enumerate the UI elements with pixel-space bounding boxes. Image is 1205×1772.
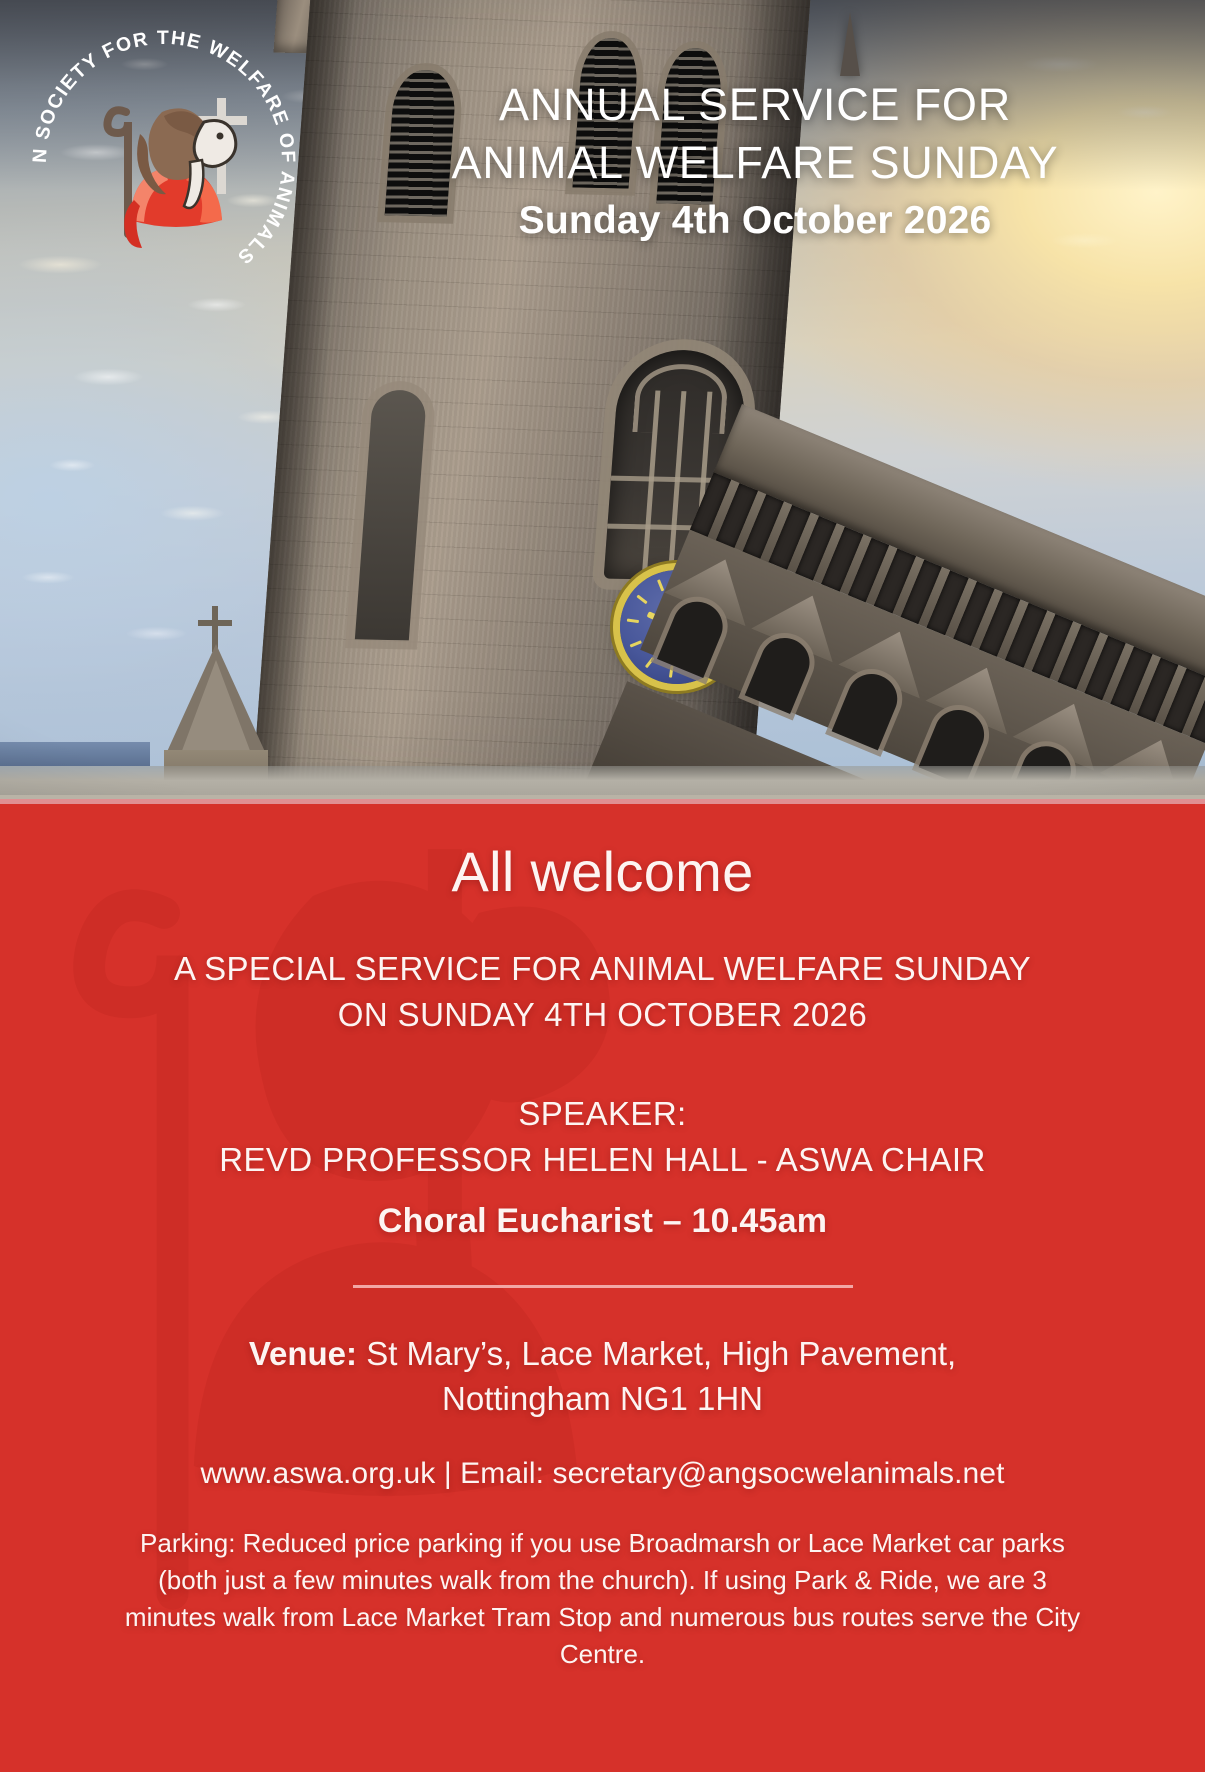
section-divider (0, 795, 1205, 804)
all-welcome-heading: All welcome (60, 804, 1145, 900)
service-time: Choral Eucharist – 10.45am (60, 1202, 1145, 1241)
hero-title: ANNUAL SERVICE FOR ANIMAL WELFARE SUNDAY (330, 76, 1180, 191)
speaker-label: SPEAKER: (60, 1091, 1145, 1137)
hero-title-line2: ANIMAL WELFARE SUNDAY (330, 134, 1180, 192)
logo-shepherd-figure (107, 98, 247, 248)
special-service-block: A SPECIAL SERVICE FOR ANIMAL WELFARE SUN… (60, 946, 1145, 1037)
horizontal-rule (353, 1285, 853, 1288)
aswa-logo: ANGLICAN SOCIETY FOR THE WELFARE OF ANIM… (14, 12, 314, 312)
hero-date: Sunday 4th October 2026 (330, 199, 1180, 243)
info-panel-content: All welcome A SPECIAL SERVICE FOR ANIMAL… (0, 804, 1205, 1673)
info-panel: All welcome A SPECIAL SERVICE FOR ANIMAL… (0, 804, 1205, 1772)
contact-line[interactable]: www.aswa.org.uk | Email: secretary@angso… (60, 1457, 1145, 1491)
hero-heading-block: ANNUAL SERVICE FOR ANIMAL WELFARE SUNDAY… (330, 76, 1180, 243)
special-service-line2: ON SUNDAY 4TH OCTOBER 2026 (60, 992, 1145, 1038)
poster-root: ANGLICAN SOCIETY FOR THE WELFARE OF ANIM… (0, 0, 1205, 1772)
venue-line2: Nottingham NG1 1HN (60, 1377, 1145, 1422)
foreground-blue-roof (0, 742, 150, 766)
venue-block: Venue: St Mary’s, Lace Market, High Pave… (60, 1332, 1145, 1421)
venue-address-line1: St Mary’s, Lace Market, High Pavement, (366, 1335, 956, 1372)
tower-pinnacle (840, 12, 860, 76)
speaker-block: SPEAKER: REVD PROFESSOR HELEN HALL - ASW… (60, 1091, 1145, 1182)
hero-title-line1: ANNUAL SERVICE FOR (330, 76, 1180, 134)
parking-info: Parking: Reduced price parking if you us… (113, 1525, 1093, 1673)
venue-label: Venue: (249, 1335, 357, 1372)
speaker-name: REVD PROFESSOR HELEN HALL - ASWA CHAIR (60, 1137, 1145, 1183)
special-service-line1: A SPECIAL SERVICE FOR ANIMAL WELFARE SUN… (60, 946, 1145, 992)
venue-line1: Venue: St Mary’s, Lace Market, High Pave… (60, 1332, 1145, 1377)
